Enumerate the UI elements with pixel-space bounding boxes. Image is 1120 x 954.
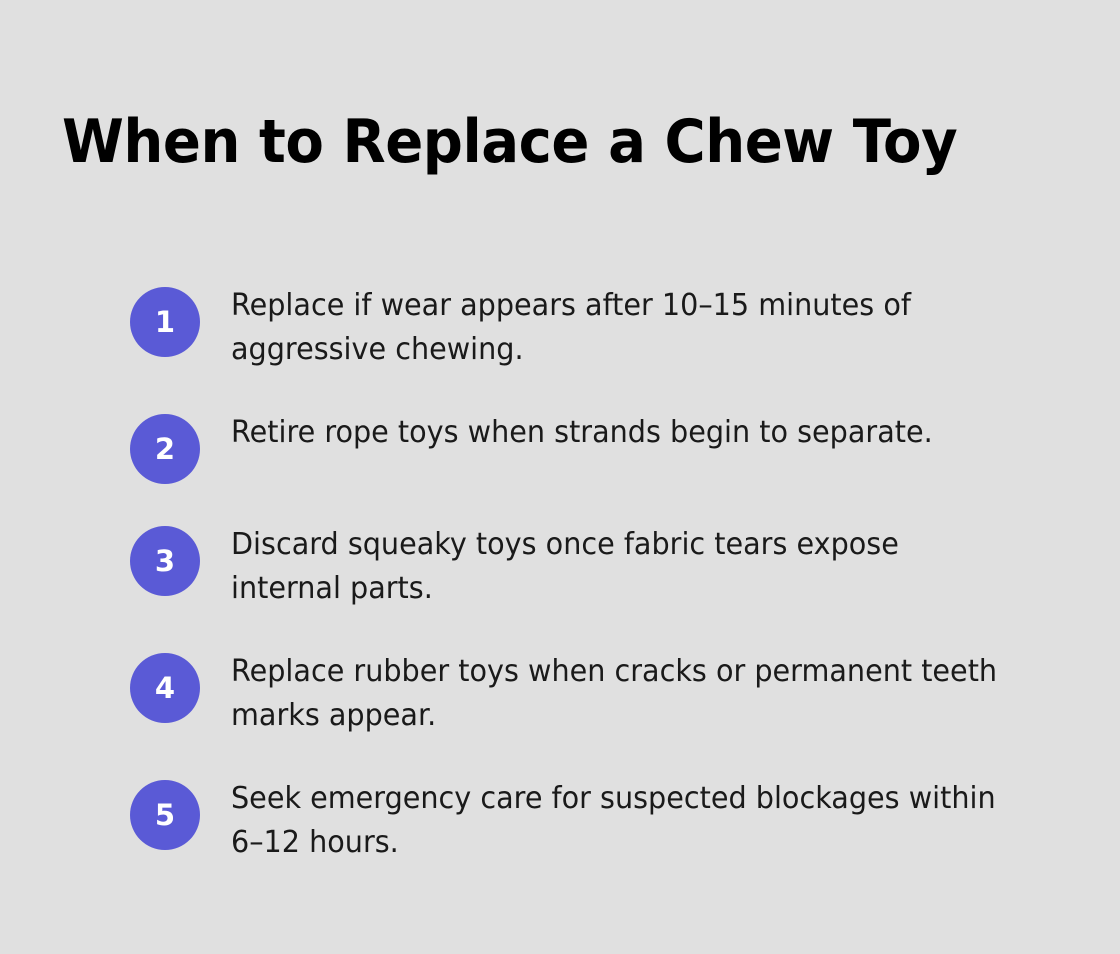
- list-item: 1 Replace if wear appears after 10–15 mi…: [130, 283, 1060, 372]
- step-text: Replace if wear appears after 10–15 minu…: [231, 283, 1009, 372]
- list-item: 4 Replace rubber toys when cracks or per…: [130, 649, 1060, 738]
- infographic-card: When to Replace a Chew Toy 1 Replace if …: [0, 0, 1120, 954]
- step-text: Seek emergency care for suspected blocka…: [231, 776, 1009, 865]
- step-text: Retire rope toys when strands begin to s…: [231, 410, 1009, 455]
- page-title: When to Replace a Chew Toy: [62, 107, 957, 177]
- list-item: 5 Seek emergency care for suspected bloc…: [130, 776, 1060, 865]
- step-number-badge: 5: [130, 780, 200, 850]
- list-item: 3 Discard squeaky toys once fabric tears…: [130, 522, 1060, 611]
- list-item: 2 Retire rope toys when strands begin to…: [130, 410, 1060, 484]
- step-text: Replace rubber toys when cracks or perma…: [231, 649, 1009, 738]
- step-number-badge: 1: [130, 287, 200, 357]
- step-text: Discard squeaky toys once fabric tears e…: [231, 522, 1009, 611]
- step-number-badge: 2: [130, 414, 200, 484]
- step-number-badge: 3: [130, 526, 200, 596]
- step-number-badge: 4: [130, 653, 200, 723]
- steps-list: 1 Replace if wear appears after 10–15 mi…: [130, 283, 1060, 865]
